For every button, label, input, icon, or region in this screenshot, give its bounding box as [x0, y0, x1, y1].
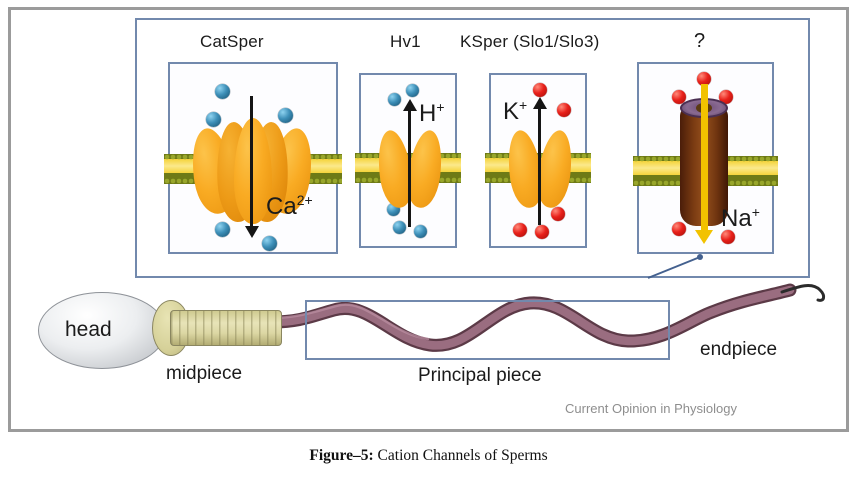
ion-blue	[215, 84, 230, 99]
flux-arrow-head	[403, 99, 417, 111]
figure-caption: Figure–5: Cation Channels of Sperms	[0, 447, 857, 465]
flux-arrow-line	[538, 107, 541, 225]
ion-label-na: Na+	[721, 204, 760, 233]
panel-title-ksper: KSper (Slo1/Slo3)	[460, 32, 599, 52]
panel-unknown-na: Na+	[637, 62, 774, 254]
ion-red	[557, 103, 571, 117]
figure-caption-text: Cation Channels of Sperms	[378, 447, 548, 464]
panel-catsper: Ca2+	[168, 62, 338, 254]
ion-red	[533, 83, 547, 97]
sperm-endpiece-label: endpiece	[700, 339, 777, 361]
ion-red	[551, 207, 565, 221]
flux-arrow-head	[533, 97, 547, 109]
ion-blue	[278, 108, 293, 123]
panel-ksper: K+	[489, 73, 587, 248]
panel-hv1: H+	[359, 73, 457, 248]
flux-arrow-head	[245, 226, 259, 238]
ion-red	[513, 223, 527, 237]
figure-root: CatSper Hv1 KSper (Slo1/Slo3) ? Ca2+	[0, 0, 857, 487]
sperm-head-label: head	[65, 318, 112, 342]
ion-label-ca: Ca2+	[266, 192, 313, 221]
sperm-midpiece-label: midpiece	[166, 363, 242, 385]
ion-blue	[388, 93, 401, 106]
panel-title-hv1: Hv1	[390, 32, 421, 52]
principal-piece-label: Principal piece	[418, 365, 542, 387]
ion-blue	[414, 225, 427, 238]
figure-caption-prefix: Figure–5:	[309, 447, 373, 464]
ion-red	[535, 225, 549, 239]
ion-label-k: K+	[503, 97, 527, 126]
ion-blue	[215, 222, 230, 237]
panel-title-catsper: CatSper	[200, 32, 264, 52]
ion-label-h: H+	[419, 99, 445, 128]
sperm-midpiece	[170, 310, 282, 346]
flux-arrow-line	[701, 84, 708, 234]
flux-arrow-line	[250, 96, 253, 228]
principal-piece-box	[305, 300, 670, 360]
ion-blue	[393, 221, 406, 234]
journal-credit: Current Opinion in Physiology	[565, 401, 737, 416]
flux-arrow-line	[408, 109, 411, 227]
ion-blue	[206, 112, 221, 127]
ion-blue	[406, 84, 419, 97]
flux-arrow-head	[695, 230, 713, 244]
panel-title-unknown: ?	[694, 30, 705, 53]
ion-blue	[262, 236, 277, 251]
ion-red	[672, 222, 686, 236]
